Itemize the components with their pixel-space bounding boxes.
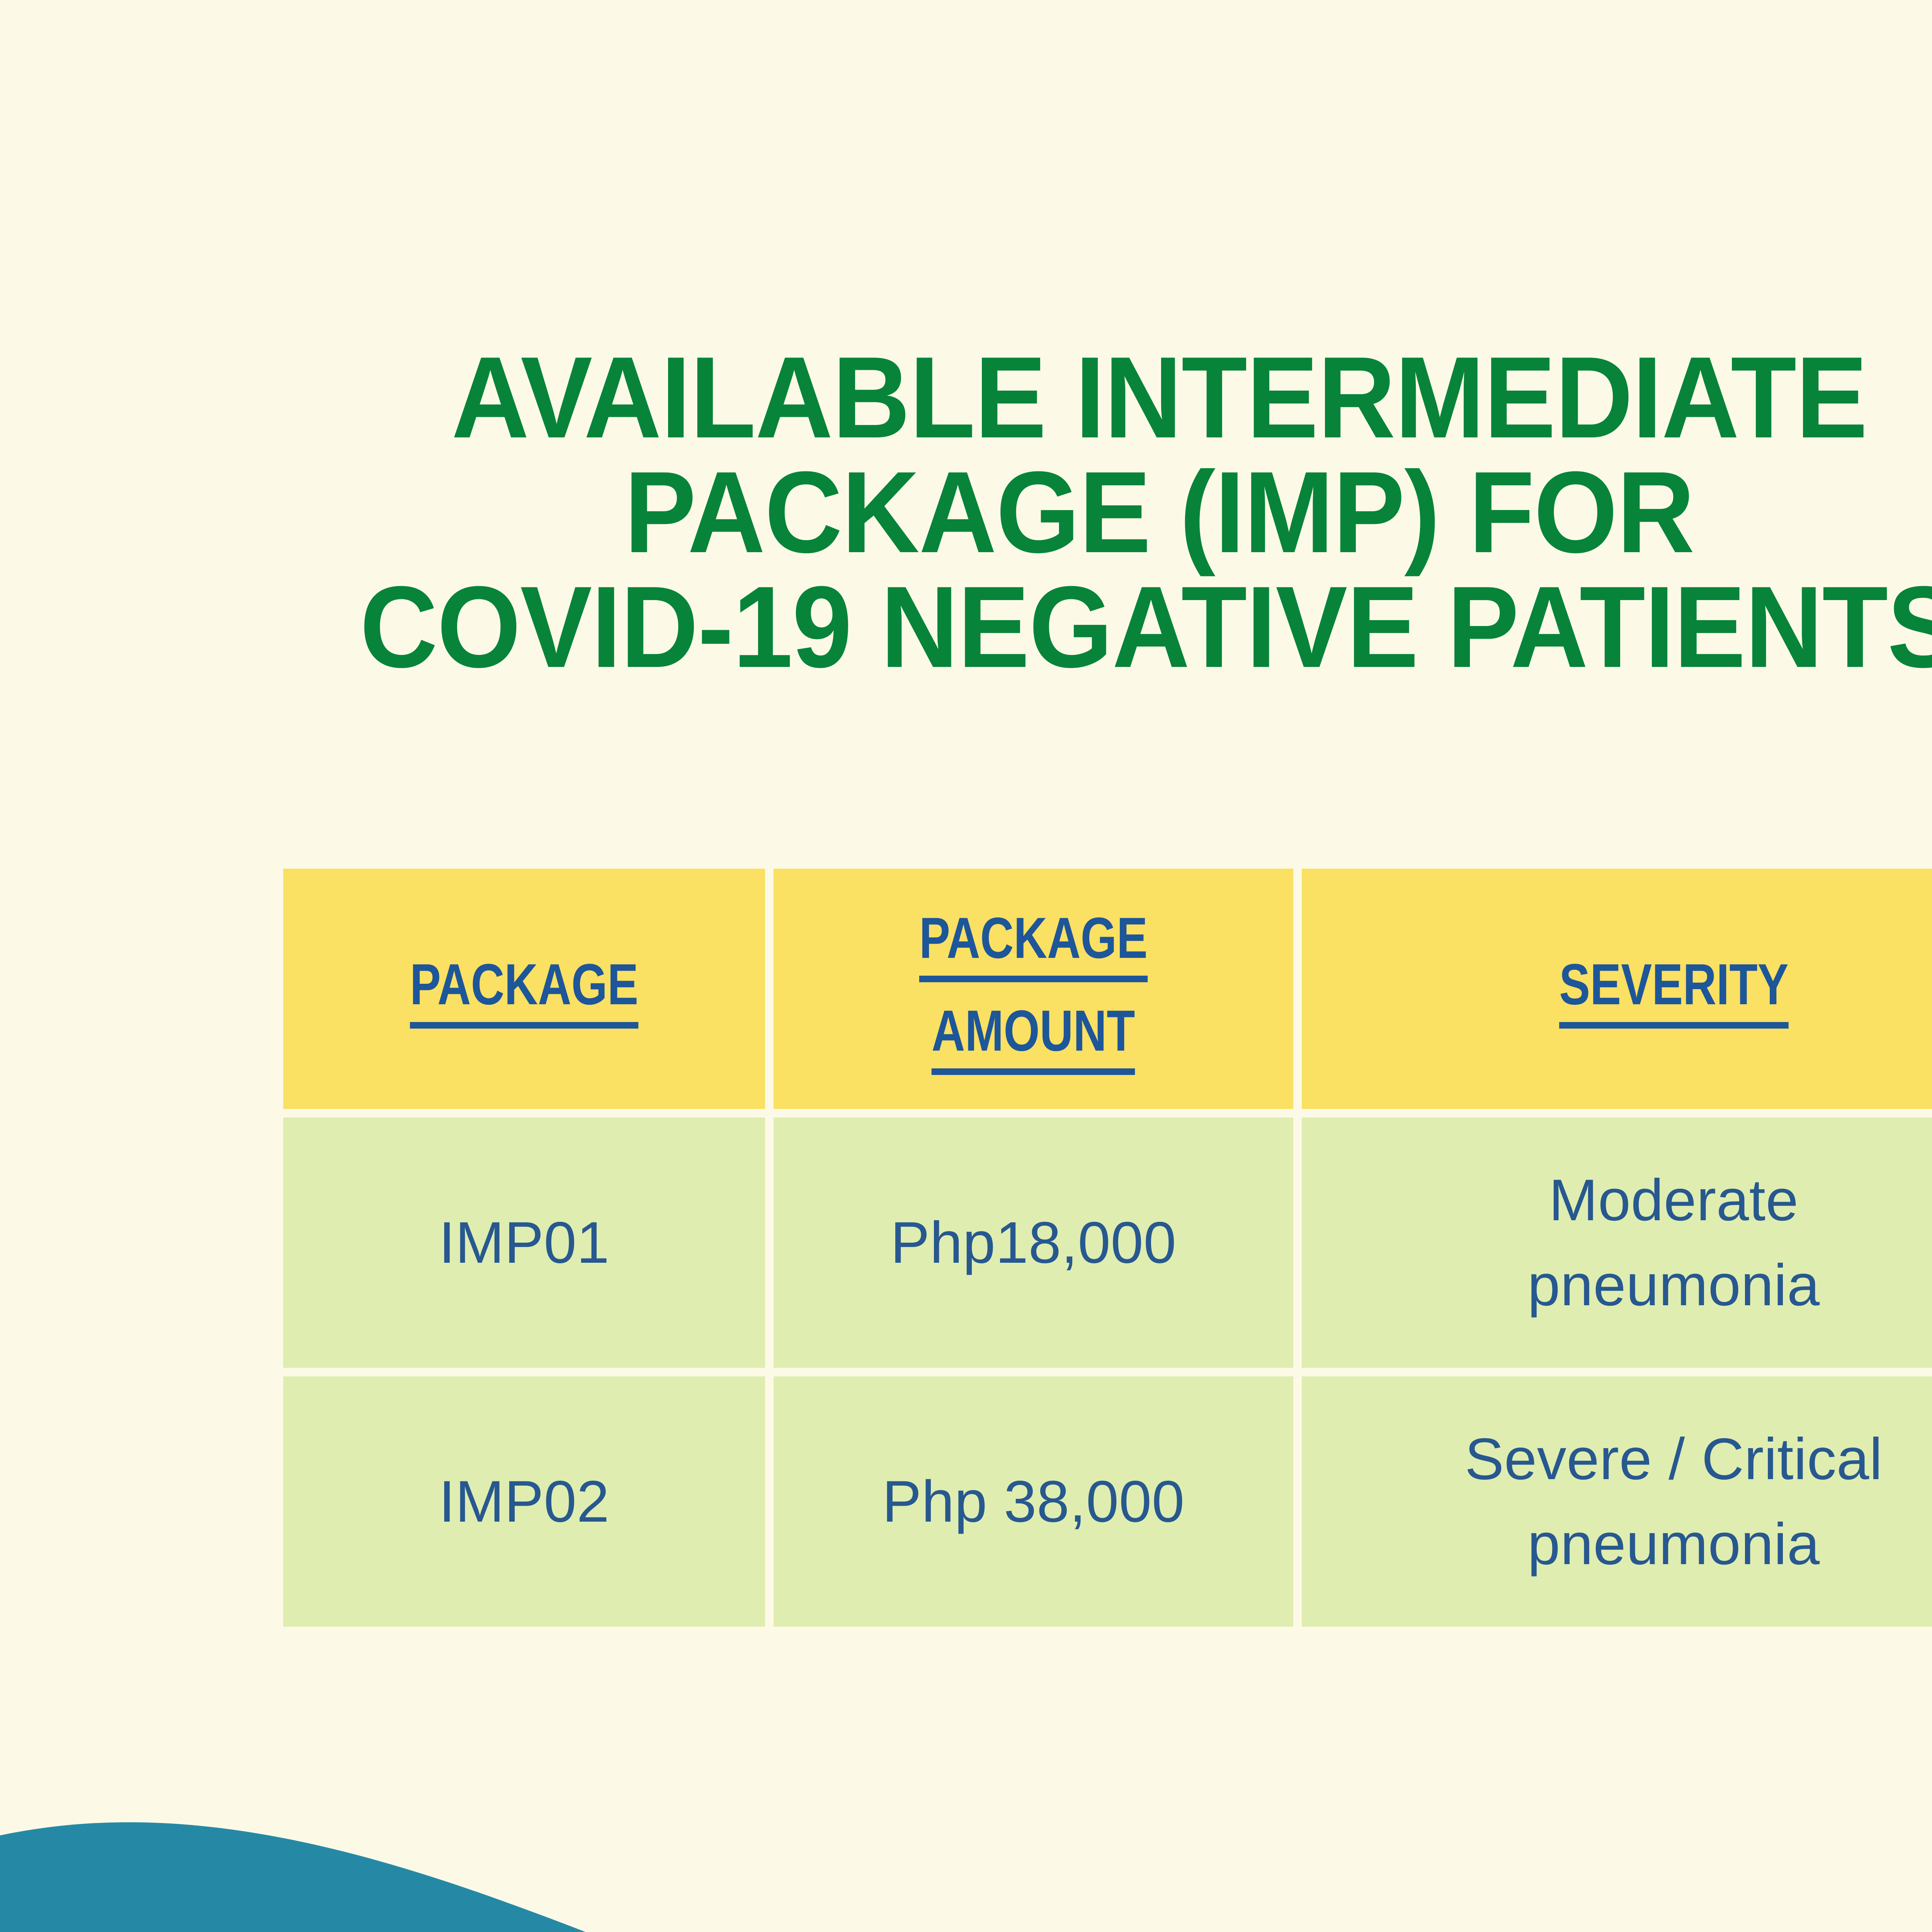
- row-0-amount: Php18,000: [891, 1200, 1177, 1285]
- row-1-severity-line2: pneumonia: [1465, 1502, 1883, 1587]
- cell-severity: Severe / Critical pneumonia: [1302, 1376, 1932, 1627]
- table-header-row: PACKAGE PACKAGE AMOUNT SEVERITY: [283, 869, 1932, 1109]
- row-0-severity-line1: Moderate: [1527, 1158, 1820, 1243]
- column-header-package-label: PACKAGE: [410, 949, 638, 1029]
- row-0-severity-line2: pneumonia: [1527, 1243, 1820, 1328]
- cell-amount: Php 38,000: [774, 1376, 1293, 1627]
- column-header-package: PACKAGE: [283, 869, 765, 1109]
- cell-package: IMP01: [283, 1117, 765, 1368]
- table-row: IMP02 Php 38,000 Severe / Critical pneum…: [283, 1376, 1932, 1627]
- table-row: IMP01 Php18,000 Moderate pneumonia: [283, 1117, 1932, 1368]
- column-header-amount-label-line2: AMOUNT: [932, 995, 1135, 1075]
- cell-amount: Php18,000: [774, 1117, 1293, 1368]
- column-header-package-amount: PACKAGE AMOUNT: [774, 869, 1293, 1109]
- row-1-package: IMP02: [439, 1459, 610, 1544]
- cell-severity: Moderate pneumonia: [1302, 1117, 1932, 1368]
- column-header-severity-label: SEVERITY: [1559, 949, 1789, 1029]
- package-table: PACKAGE PACKAGE AMOUNT SEVERITY IMP01 Ph…: [283, 869, 1932, 1627]
- column-header-amount-label-line1: PACKAGE: [919, 903, 1148, 982]
- row-0-package: IMP01: [439, 1200, 610, 1285]
- row-1-amount: Php 38,000: [882, 1459, 1185, 1544]
- title-line-1: AVAILABLE INTERMEDIATE: [81, 340, 1932, 455]
- title-line-3: COVID-19 NEGATIVE PATIENTS: [81, 570, 1932, 684]
- poster-canvas: AVAILABLE INTERMEDIATE PACKAGE (IMP) FOR…: [0, 0, 1932, 1932]
- column-header-severity: SEVERITY: [1302, 869, 1932, 1109]
- row-1-severity-line1: Severe / Critical: [1465, 1417, 1883, 1502]
- title-line-2: PACKAGE (IMP) FOR: [81, 455, 1932, 570]
- footer-wave-decoration: [0, 1777, 1932, 1932]
- cell-package: IMP02: [283, 1376, 765, 1627]
- page-title: AVAILABLE INTERMEDIATE PACKAGE (IMP) FOR…: [0, 340, 1932, 684]
